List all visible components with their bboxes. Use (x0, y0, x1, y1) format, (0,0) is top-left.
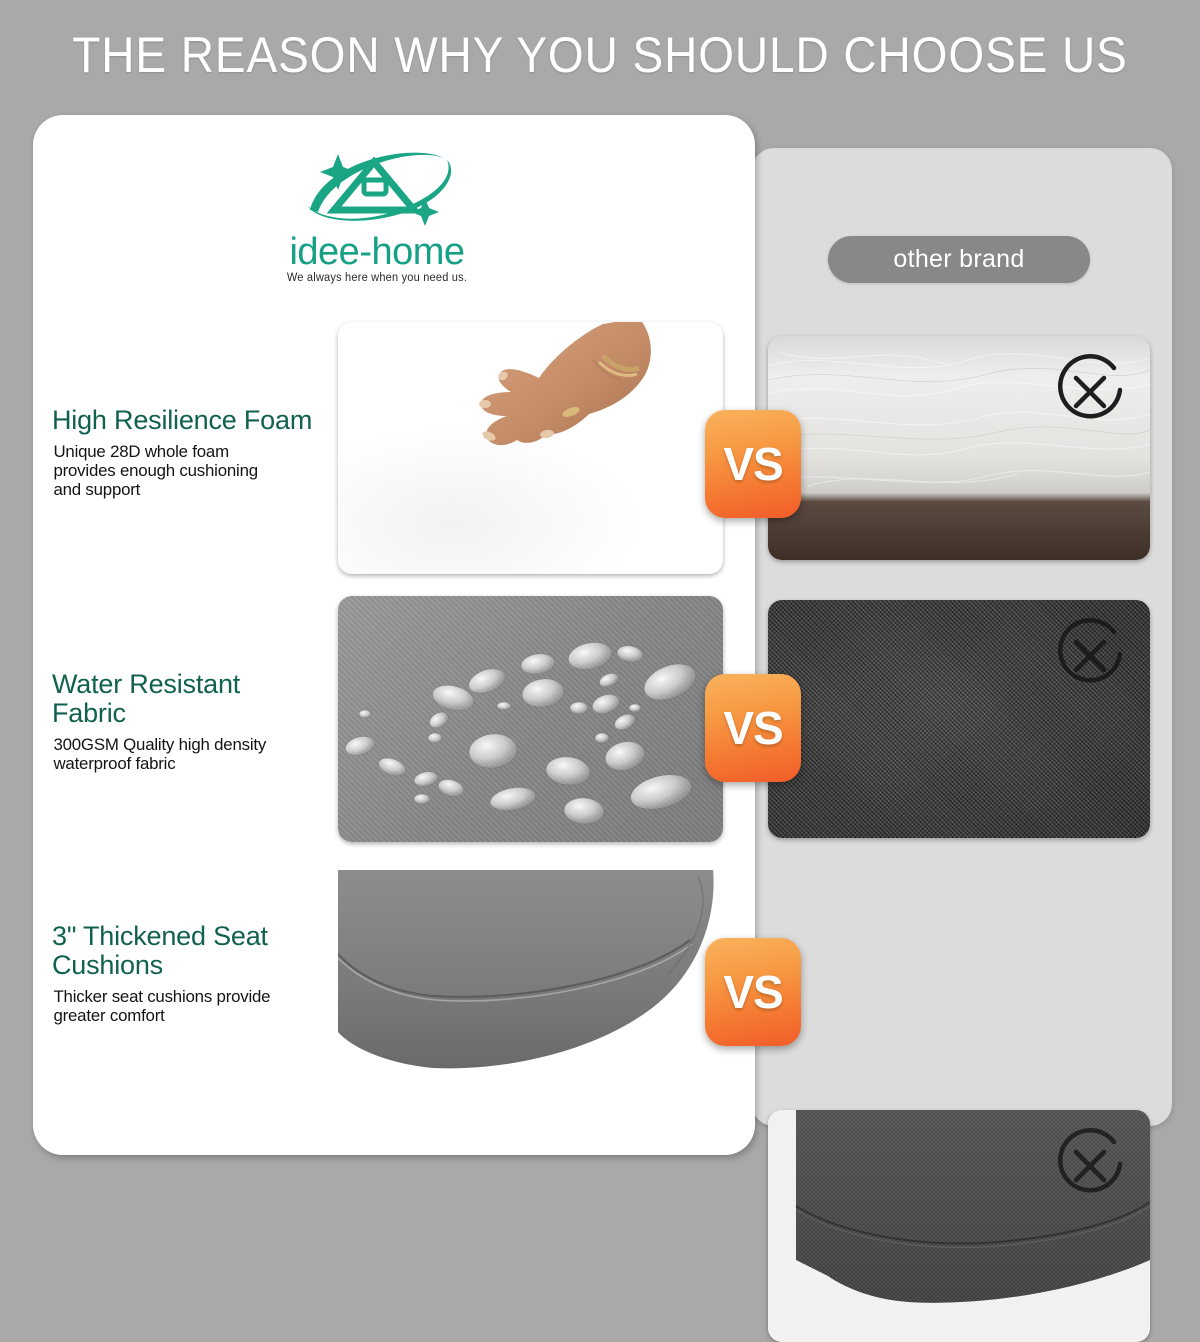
feature-1-ours-image (338, 322, 723, 574)
feature-2-text: Water Resistant Fabric 300GSM Quality hi… (52, 670, 342, 773)
circle-x-icon (1048, 1124, 1132, 1208)
feature-row-1: High Resilience Foam Unique 28D whole fo… (0, 318, 1200, 578)
feature-3-theirs-image (768, 1110, 1150, 1342)
feature-2-ours-image (338, 596, 723, 842)
hand-on-foam-icon (443, 322, 693, 516)
brand-tagline: We always here when you need us. (257, 272, 497, 284)
feature-3-ours-image (338, 862, 723, 1104)
page-title: THE REASON WHY YOU SHOULD CHOOSE US (48, 26, 1152, 84)
feature-2-heading: Water Resistant Fabric (52, 670, 342, 728)
feature-row-2: Water Resistant Fabric 300GSM Quality hi… (0, 586, 1200, 846)
thick-cushion-illustration (338, 862, 723, 1104)
other-brand-badge: other brand (828, 236, 1090, 283)
house-swoosh-icon (292, 140, 462, 235)
feature-2-theirs-image (768, 600, 1150, 838)
feature-3-text: 3" Thickened Seat Cushions Thicker seat … (52, 922, 342, 1025)
circle-x-icon (1048, 614, 1132, 698)
vs-badge-1: VS (705, 410, 801, 518)
brand-logo: idee-home We always here when you need u… (252, 140, 502, 284)
brand-name: idee-home (252, 231, 502, 274)
feature-3-description: Thicker seat cushions provide greater co… (53, 987, 340, 1025)
feature-row-3: 3" Thickened Seat Cushions Thicker seat … (0, 856, 1200, 1116)
circle-x-icon (1048, 350, 1132, 434)
vs-badge-2: VS (705, 674, 801, 782)
feature-1-description: Unique 28D whole foam provides enough cu… (53, 442, 340, 499)
vs-badge-3: VS (705, 938, 801, 1046)
feature-1-theirs-image (768, 336, 1150, 560)
water-droplets (338, 596, 723, 842)
feature-1-text: High Resilience Foam Unique 28D whole fo… (52, 406, 342, 499)
feature-3-heading: 3" Thickened Seat Cushions (52, 922, 342, 980)
feature-1-heading: High Resilience Foam (52, 406, 342, 435)
feature-2-description: 300GSM Quality high density waterproof f… (53, 735, 340, 773)
